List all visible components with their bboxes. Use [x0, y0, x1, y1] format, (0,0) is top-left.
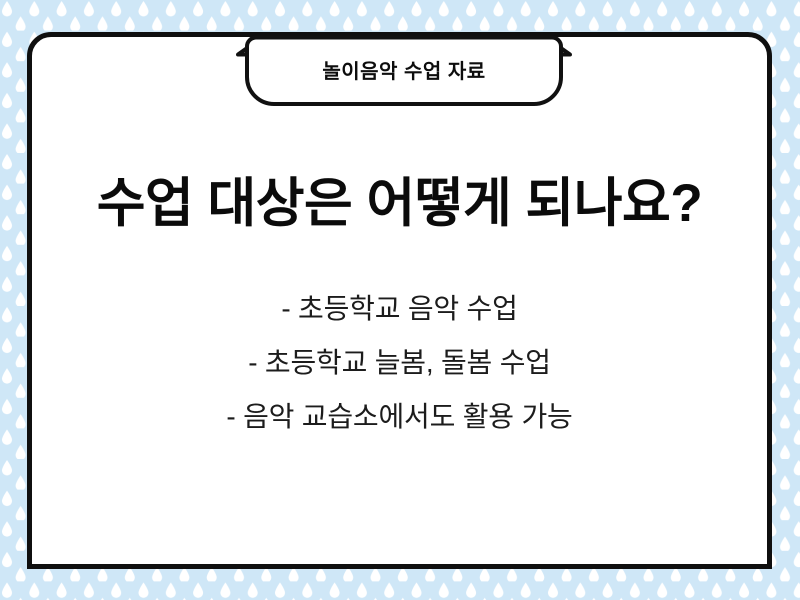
- list-item: - 초등학교 음악 수업: [27, 295, 772, 323]
- slide-canvas: 놀이음악 수업 자료 수업 대상은 어떻게 되나요? - 초등학교 음악 수업 …: [0, 0, 800, 600]
- slide-content: 수업 대상은 어떻게 되나요? - 초등학교 음악 수업 - 초등학교 늘봄, …: [27, 32, 772, 569]
- page-title: 수업 대상은 어떻게 되나요?: [27, 174, 772, 235]
- list-item: - 초등학교 늘봄, 돌봄 수업: [27, 349, 772, 377]
- bullet-list: - 초등학교 음악 수업 - 초등학교 늘봄, 돌봄 수업 - 음악 교습소에서…: [27, 295, 772, 431]
- list-item: - 음악 교습소에서도 활용 가능: [27, 403, 772, 431]
